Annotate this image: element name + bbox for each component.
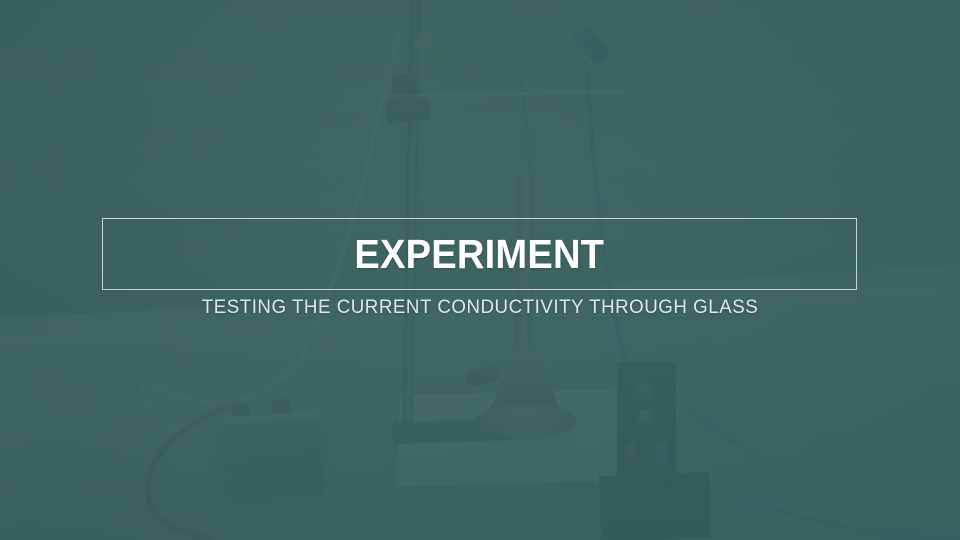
presentation-slide: EXPERIMENT TESTING THE CURRENT CONDUCTIV… xyxy=(0,0,960,540)
slide-subtitle: TESTING THE CURRENT CONDUCTIVITY THROUGH… xyxy=(19,296,941,319)
title-frame: EXPERIMENT xyxy=(102,218,857,290)
slide-title: EXPERIMENT xyxy=(355,234,605,275)
